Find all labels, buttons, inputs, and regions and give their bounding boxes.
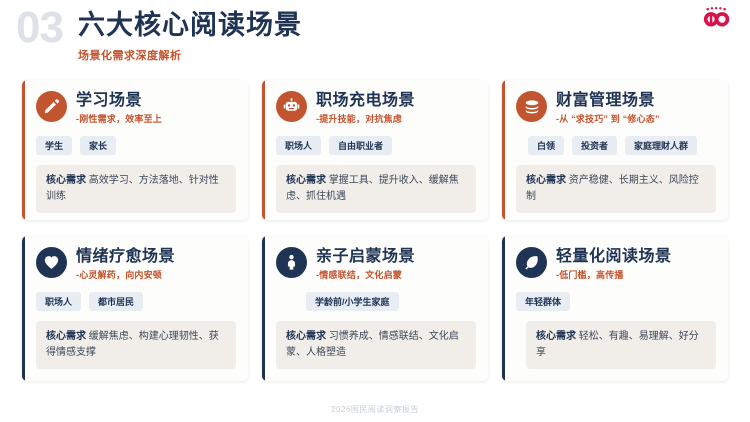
- card-title: 情绪疗愈场景: [76, 247, 175, 266]
- tag-list: 职场人 都市居民: [36, 292, 236, 311]
- card-heading-text: 学习场景 -刚性需求，效率至上: [76, 90, 162, 125]
- tag-item[interactable]: 职场人: [276, 136, 321, 155]
- core-need-label: 核心需求: [46, 331, 86, 342]
- card-header: 亲子启蒙场景 -情感联结，文化启蒙: [276, 246, 476, 281]
- card-tagline: -低门槛，高传播: [556, 268, 672, 281]
- card-title: 亲子启蒙场景: [316, 247, 415, 266]
- page-title: 六大核心阅读场景: [78, 10, 302, 41]
- title-block: 六大核心阅读场景 场景化需求深度解析: [78, 10, 302, 63]
- tag-list: 学生 家长: [36, 136, 236, 155]
- card-tagline: -心灵解药，向内安顿: [76, 268, 175, 281]
- core-need-box: 核心需求 高效学习、方法落地、针对性训练: [36, 165, 236, 213]
- card-header: 情绪疗愈场景 -心灵解药，向内安顿: [36, 246, 236, 281]
- section-number: 03: [16, 6, 63, 50]
- card-heading-text: 情绪疗愈场景 -心灵解药，向内安顿: [76, 246, 175, 281]
- core-need-label: 核心需求: [536, 331, 576, 342]
- tag-item[interactable]: 都市居民: [89, 292, 143, 311]
- card-tagline: -刚性需求，效率至上: [76, 112, 162, 125]
- core-need-box: 核心需求 习惯养成、情感联结、文化启蒙、人格塑造: [276, 321, 476, 369]
- tag-list: 年轻群体: [516, 292, 716, 311]
- tag-item[interactable]: 自由职业者: [329, 136, 392, 155]
- tag-item[interactable]: 投资者: [572, 136, 617, 155]
- core-need-box: 核心需求 掌握工具、提升收入、缓解焦虑、抓住机遇: [276, 165, 476, 213]
- page-subtitle: 场景化需求深度解析: [78, 47, 302, 63]
- card-title: 财富管理场景: [556, 91, 660, 110]
- scenario-card-emotional-healing[interactable]: 情绪疗愈场景 -心灵解药，向内安顿 职场人 都市居民 核心需求 缓解焦虑、构建心…: [22, 236, 248, 381]
- card-heading-text: 亲子启蒙场景 -情感联结，文化启蒙: [316, 246, 415, 281]
- card-header: 轻量化阅读场景 -低门槛，高传播: [516, 246, 716, 281]
- tag-item[interactable]: 学生: [36, 136, 72, 155]
- card-header: 财富管理场景 -从 “求技巧” 到 “修心态”: [516, 90, 716, 125]
- tag-item[interactable]: 家庭理财人群: [625, 136, 697, 155]
- robot-icon: [276, 91, 307, 122]
- scenario-card-parent-child[interactable]: 亲子启蒙场景 -情感联结，文化启蒙 学龄前/小学生家庭 核心需求 习惯养成、情感…: [262, 236, 488, 381]
- core-need-label: 核心需求: [286, 175, 326, 186]
- core-need-box: 核心需求 轻松、有趣、易理解、好分享: [526, 321, 716, 369]
- card-tagline: -情感联结，文化启蒙: [316, 268, 415, 281]
- tag-list: 学龄前/小学生家庭: [276, 292, 476, 311]
- tag-list: 职场人 自由职业者: [276, 136, 476, 155]
- tag-item[interactable]: 年轻群体: [516, 292, 570, 311]
- card-header: 职场充电场景 -提升技能，对抗焦虑: [276, 90, 476, 125]
- card-title: 轻量化阅读场景: [556, 247, 672, 266]
- slide-footer: 2026国民阅读洞察报告: [0, 404, 750, 415]
- card-heading-text: 轻量化阅读场景 -低门槛，高传播: [556, 246, 672, 281]
- tag-list: 白领 投资者 家庭理财人群: [516, 136, 716, 155]
- coins-icon: [516, 91, 547, 122]
- card-title: 学习场景: [76, 91, 162, 110]
- card-heading-text: 职场充电场景 -提升技能，对抗焦虑: [316, 90, 415, 125]
- tag-item[interactable]: 白领: [528, 136, 564, 155]
- core-need-label: 核心需求: [46, 175, 86, 186]
- scenario-card-grid: 学习场景 -刚性需求，效率至上 学生 家长 核心需求 高效学习、方法落地、针对性…: [22, 80, 728, 381]
- tag-item[interactable]: 家长: [80, 136, 116, 155]
- feather-icon: [516, 247, 547, 278]
- card-tagline: -提升技能，对抗焦虑: [316, 112, 415, 125]
- scenario-card-study[interactable]: 学习场景 -刚性需求，效率至上 学生 家长 核心需求 高效学习、方法落地、针对性…: [22, 80, 248, 220]
- pencil-icon: [36, 91, 67, 122]
- tag-item[interactable]: 职场人: [36, 292, 81, 311]
- card-heading-text: 财富管理场景 -从 “求技巧” 到 “修心态”: [556, 90, 660, 125]
- child-icon: [276, 247, 307, 278]
- core-need-box: 核心需求 资产稳健、长期主义、风险控制: [516, 165, 716, 213]
- scenario-card-wealth[interactable]: 财富管理场景 -从 “求技巧” 到 “修心态” 白领 投资者 家庭理财人群 核心…: [502, 80, 728, 220]
- dangdang-logo-icon: [700, 7, 734, 29]
- scenario-card-light-reading[interactable]: 轻量化阅读场景 -低门槛，高传播 年轻群体 核心需求 轻松、有趣、易理解、好分享: [502, 236, 728, 381]
- scenario-card-workplace[interactable]: 职场充电场景 -提升技能，对抗焦虑 职场人 自由职业者 核心需求 掌握工具、提升…: [262, 80, 488, 220]
- heart-icon: [36, 247, 67, 278]
- core-need-label: 核心需求: [526, 175, 566, 186]
- card-header: 学习场景 -刚性需求，效率至上: [36, 90, 236, 125]
- slide-header: 03 六大核心阅读场景 场景化需求深度解析: [0, 0, 750, 72]
- card-tagline: -从 “求技巧” 到 “修心态”: [556, 112, 660, 125]
- card-title: 职场充电场景: [316, 91, 415, 110]
- core-need-label: 核心需求: [286, 331, 326, 342]
- core-need-box: 核心需求 缓解焦虑、构建心理韧性、获得情感支撑: [36, 321, 236, 369]
- tag-item[interactable]: 学龄前/小学生家庭: [306, 292, 399, 311]
